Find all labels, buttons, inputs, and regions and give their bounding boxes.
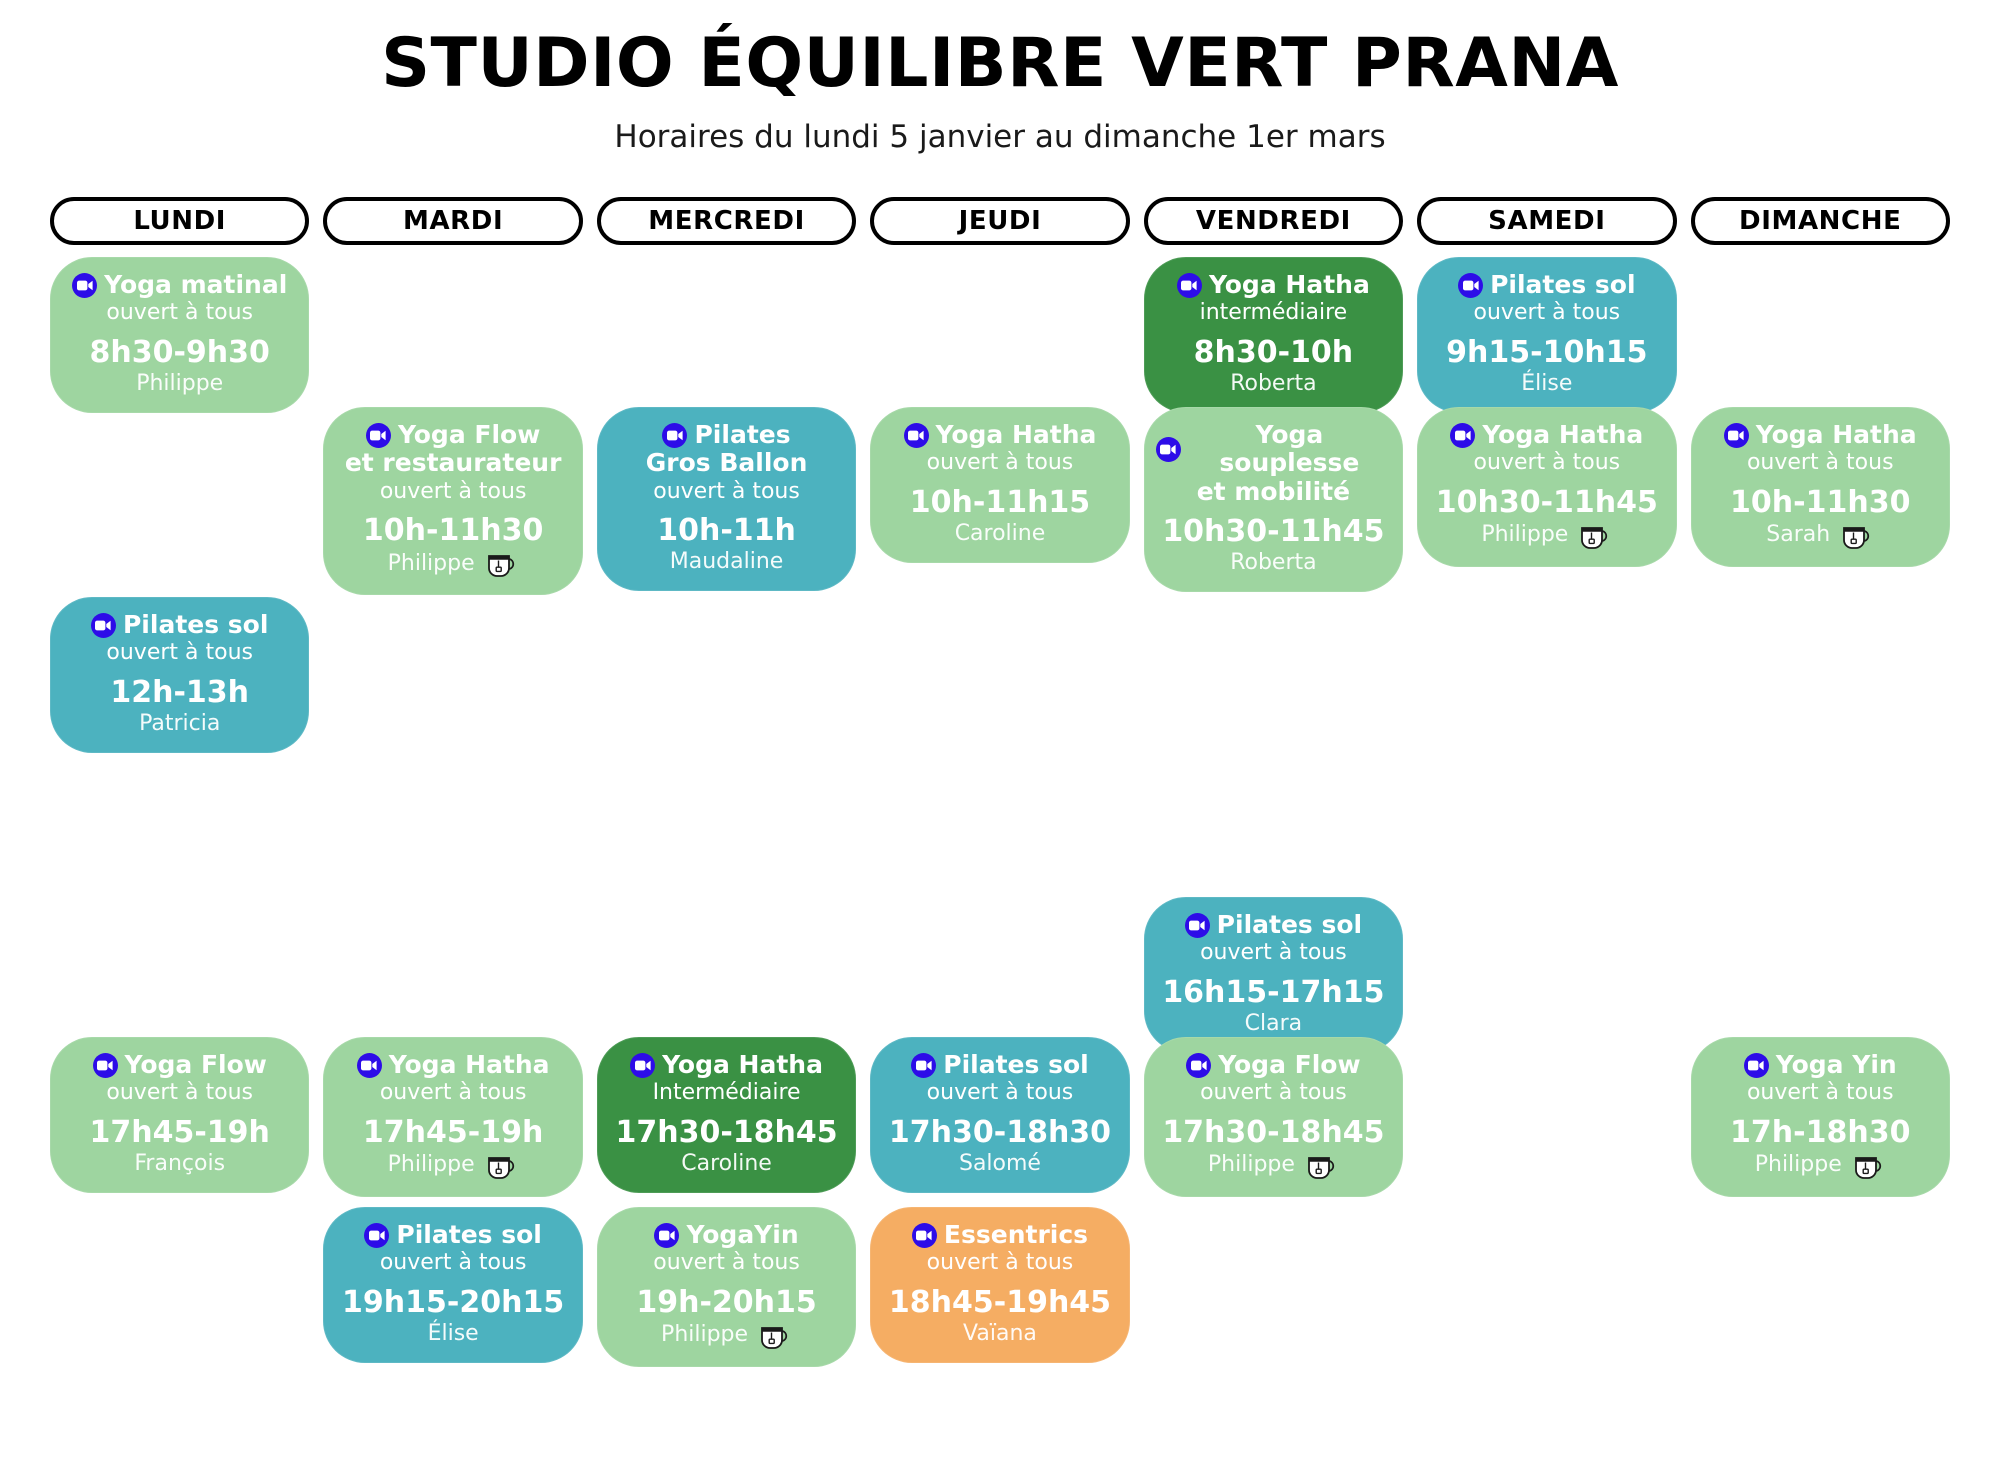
class-title: Pilates sol	[882, 1051, 1117, 1079]
class-teacher: Philippe	[388, 551, 475, 577]
class-title: Yoga Hatha	[1156, 271, 1391, 299]
class-title: Yoga Hatha	[335, 1051, 570, 1079]
class-title-line: Gros Ballon	[609, 449, 844, 477]
class-slot: YogaYinouvert à tous19h-20h15Philippe	[597, 1207, 856, 1367]
zoom-video-icon	[1724, 423, 1749, 448]
class-teacher-row: Maudaline	[609, 549, 844, 575]
class-time: 10h30-11h45	[1156, 515, 1391, 548]
zoom-video-icon	[364, 1223, 389, 1248]
class-title-line: Pilates sol	[943, 1051, 1088, 1079]
class-slot: Yoga Hathaouvert à tous10h30-11h45Philip…	[1417, 407, 1676, 567]
class-time: 19h-20h15	[609, 1286, 844, 1319]
class-slot: Essentricsouvert à tous18h45-19h45Vaïana	[870, 1207, 1129, 1363]
class-title: Pilates sol	[1429, 271, 1664, 299]
class-time: 17h30-18h45	[1156, 1116, 1391, 1149]
day-header-lundi[interactable]: LUNDI	[50, 197, 309, 245]
class-teacher: Élise	[428, 1321, 479, 1347]
class-time: 10h-11h30	[1703, 486, 1938, 519]
class-title-line: Pilates sol	[1217, 911, 1362, 939]
class-title-line: Yoga Hatha	[1209, 271, 1370, 299]
class-teacher: Clara	[1245, 1011, 1302, 1037]
day-header-jeudi[interactable]: JEUDI	[870, 197, 1129, 245]
class-time: 17h30-18h45	[609, 1116, 844, 1149]
class-level: ouvert à tous	[882, 1080, 1117, 1106]
class-slot: Pilates solouvert à tous17h30-18h30Salom…	[870, 1037, 1129, 1193]
class-level: ouvert à tous	[1429, 450, 1664, 476]
class-teacher-row: Sarah	[1703, 521, 1938, 551]
class-time: 8h30-10h	[1156, 336, 1391, 369]
day-header-mardi[interactable]: MARDI	[323, 197, 582, 245]
class-slot: Pilates solouvert à tous19h15-20h15Élise	[323, 1207, 582, 1363]
class-title-line: Yoga Hatha	[389, 1051, 550, 1079]
class-title: Yoga souplesse	[1156, 421, 1391, 478]
class-title: YogaYin	[609, 1221, 844, 1249]
class-slot: Pilates solouvert à tous9h15-10h15Élise	[1417, 257, 1676, 413]
class-title: Yoga Hatha	[882, 421, 1117, 449]
class-slot: Yoga Yinouvert à tous17h-18h30Philippe	[1691, 1037, 1950, 1197]
class-slot: Yoga Hathaintermédiaire8h30-10hRoberta	[1144, 257, 1403, 413]
tea-cup-icon	[758, 1321, 792, 1351]
class-level: ouvert à tous	[882, 450, 1117, 476]
class-teacher: Élise	[1521, 371, 1572, 397]
class-time: 8h30-9h30	[62, 336, 297, 369]
zoom-video-icon	[1186, 1053, 1211, 1078]
class-slot: Yoga Hathaouvert à tous10h-11h15Caroline	[870, 407, 1129, 563]
class-teacher: Maudaline	[670, 549, 784, 575]
class-card[interactable]: Yoga Hathaouvert à tous10h-11h15Caroline	[870, 407, 1129, 563]
class-card[interactable]: Yoga Flowouvert à tous17h30-18h45Philipp…	[1144, 1037, 1403, 1197]
class-teacher-row: Salomé	[882, 1151, 1117, 1177]
class-teacher-row: Philippe	[335, 549, 570, 579]
class-title-line: Yoga Flow	[1218, 1051, 1360, 1079]
class-title: Yoga Flow	[1156, 1051, 1391, 1079]
zoom-video-icon	[1744, 1053, 1769, 1078]
class-title-line: Pilates sol	[123, 611, 268, 639]
class-card[interactable]: PilatesGros Ballonouvert à tous10h-11hMa…	[597, 407, 856, 591]
class-level: ouvert à tous	[62, 1080, 297, 1106]
class-card[interactable]: Yoga souplesseet mobilité10h30-11h45Robe…	[1144, 407, 1403, 592]
class-card[interactable]: Yoga Flowouvert à tous17h45-19hFrançois	[50, 1037, 309, 1193]
zoom-video-icon	[91, 613, 116, 638]
class-teacher-row: Philippe	[1703, 1151, 1938, 1181]
class-card[interactable]: YogaYinouvert à tous19h-20h15Philippe	[597, 1207, 856, 1367]
class-time: 10h-11h30	[335, 514, 570, 547]
class-level: ouvert à tous	[609, 1250, 844, 1276]
tea-cup-icon	[1852, 1151, 1886, 1181]
class-teacher-row: Élise	[335, 1321, 570, 1347]
class-card[interactable]: Essentricsouvert à tous18h45-19h45Vaïana	[870, 1207, 1129, 1363]
class-level: ouvert à tous	[335, 1080, 570, 1106]
tea-cup-icon	[1305, 1151, 1339, 1181]
class-title-line: Yoga Hatha	[1482, 421, 1643, 449]
class-level: ouvert à tous	[1703, 1080, 1938, 1106]
day-header-label: DIMANCHE	[1739, 206, 1901, 236]
class-teacher-row: Philippe	[1156, 1151, 1391, 1181]
day-header-label: LUNDI	[133, 206, 226, 236]
page-subtitle: Horaires du lundi 5 janvier au dimanche …	[0, 103, 2000, 155]
page-header: STUDIO ÉQUILIBRE VERT PRANA Horaires du …	[0, 0, 2000, 155]
class-teacher: Philippe	[661, 1322, 748, 1348]
class-title-line: Yoga Flow	[398, 421, 540, 449]
class-teacher: Caroline	[955, 521, 1046, 547]
zoom-video-icon	[1458, 273, 1483, 298]
class-slot: Yoga Flowouvert à tous17h45-19hFrançois	[50, 1037, 309, 1193]
class-time: 10h30-11h45	[1429, 486, 1664, 519]
class-card[interactable]: Yoga Hathaouvert à tous10h-11h30Sarah	[1691, 407, 1950, 567]
class-time: 9h15-10h15	[1429, 336, 1664, 369]
class-teacher-row: Patricia	[62, 711, 297, 737]
day-header-label: VENDREDI	[1196, 206, 1351, 236]
class-teacher-row: Clara	[1156, 1011, 1391, 1037]
schedule-page: STUDIO ÉQUILIBRE VERT PRANA Horaires du …	[0, 0, 2000, 1467]
zoom-video-icon	[630, 1053, 655, 1078]
class-card[interactable]: Pilates solouvert à tous9h15-10h15Élise	[1417, 257, 1676, 413]
class-teacher: Philippe	[1755, 1152, 1842, 1178]
class-card[interactable]: Yoga Flowet restaurateurouvert à tous10h…	[323, 407, 582, 595]
class-title-line: YogaYin	[686, 1221, 798, 1249]
class-time: 19h15-20h15	[335, 1286, 570, 1319]
class-title-line: Yoga Hatha	[662, 1051, 823, 1079]
zoom-video-icon	[366, 423, 391, 448]
class-title-line: Pilates	[694, 421, 790, 449]
class-teacher-row: Philippe	[62, 371, 297, 397]
day-header-vendredi[interactable]: VENDREDI	[1144, 197, 1403, 245]
class-teacher: Philippe	[1208, 1152, 1295, 1178]
class-time: 17h-18h30	[1703, 1116, 1938, 1149]
class-slot: Pilates solouvert à tous16h15-17h15Clara	[1144, 897, 1403, 1053]
day-header-label: MARDI	[403, 206, 503, 236]
zoom-video-icon	[912, 1223, 937, 1248]
day-header-label: SAMEDI	[1488, 206, 1605, 236]
class-teacher-row: Philippe	[1429, 521, 1664, 551]
zoom-video-icon	[1177, 273, 1202, 298]
class-teacher-row: Roberta	[1156, 371, 1391, 397]
zoom-video-icon	[93, 1053, 118, 1078]
class-time: 10h-11h	[609, 514, 844, 547]
class-title: Yoga Yin	[1703, 1051, 1938, 1079]
class-level: ouvert à tous	[1703, 450, 1938, 476]
tea-cup-icon	[485, 1151, 519, 1181]
zoom-video-icon	[72, 273, 97, 298]
class-card[interactable]: Pilates solouvert à tous16h15-17h15Clara	[1144, 897, 1403, 1053]
class-teacher-row: Roberta	[1156, 550, 1391, 576]
class-teacher-row: Élise	[1429, 371, 1664, 397]
class-teacher-row: François	[62, 1151, 297, 1177]
class-time: 10h-11h15	[882, 486, 1117, 519]
class-title: Pilates sol	[1156, 911, 1391, 939]
class-teacher: Vaïana	[963, 1321, 1037, 1347]
class-title-line: Yoga Hatha	[1756, 421, 1917, 449]
class-teacher-row: Philippe	[609, 1321, 844, 1351]
class-teacher: François	[134, 1151, 225, 1177]
class-slot: Yoga Hathaouvert à tous10h-11h30Sarah	[1691, 407, 1950, 567]
class-time: 18h45-19h45	[882, 1286, 1117, 1319]
class-level: ouvert à tous	[62, 640, 297, 666]
class-time: 17h30-18h30	[882, 1116, 1117, 1149]
class-level: ouvert à tous	[335, 1250, 570, 1276]
class-teacher: Philippe	[388, 1152, 475, 1178]
class-title-line: Yoga Yin	[1776, 1051, 1897, 1079]
class-card[interactable]: Yoga HathaIntermédiaire17h30-18h45Caroli…	[597, 1037, 856, 1193]
zoom-video-icon	[654, 1223, 679, 1248]
class-title-line: Yoga Flow	[125, 1051, 267, 1079]
zoom-video-icon	[1156, 437, 1181, 462]
class-level: ouvert à tous	[62, 300, 297, 326]
class-slot: Yoga Flowet restaurateurouvert à tous10h…	[323, 407, 582, 595]
class-level: ouvert à tous	[1429, 300, 1664, 326]
class-card[interactable]: Yoga Hathaintermédiaire8h30-10hRoberta	[1144, 257, 1403, 413]
tea-cup-icon	[485, 549, 519, 579]
class-title-line: Pilates sol	[1490, 271, 1635, 299]
day-header-label: JEUDI	[959, 206, 1042, 236]
class-title-line: Essentrics	[944, 1221, 1088, 1249]
class-time: 12h-13h	[62, 676, 297, 709]
class-title: Yoga matinal	[62, 271, 297, 299]
class-title-line: Pilates sol	[396, 1221, 541, 1249]
class-title: Pilates	[609, 421, 844, 449]
class-title-line: et mobilité	[1156, 478, 1391, 506]
class-card[interactable]: Yoga matinalouvert à tous8h30-9h30Philip…	[50, 257, 309, 413]
schedule-grid: LUNDIMARDIMERCREDIJEUDIVENDREDISAMEDIDIM…	[8, 197, 1992, 1337]
class-card[interactable]: Pilates solouvert à tous19h15-20h15Élise	[323, 1207, 582, 1363]
zoom-video-icon	[1185, 913, 1210, 938]
class-teacher: Sarah	[1766, 522, 1830, 548]
class-level: ouvert à tous	[1156, 1080, 1391, 1106]
class-slot: Yoga Hathaouvert à tous17h45-19hPhilippe	[323, 1037, 582, 1197]
class-teacher: Philippe	[136, 371, 223, 397]
class-card[interactable]: Yoga Hathaouvert à tous17h45-19hPhilippe	[323, 1037, 582, 1197]
class-time: 17h45-19h	[62, 1116, 297, 1149]
class-card[interactable]: Pilates solouvert à tous12h-13hPatricia	[50, 597, 309, 753]
page-title: STUDIO ÉQUILIBRE VERT PRANA	[0, 0, 2000, 103]
schedule-board: Yoga matinalouvert à tous8h30-9h30Philip…	[28, 257, 1972, 1337]
zoom-video-icon	[357, 1053, 382, 1078]
class-teacher: Roberta	[1230, 371, 1316, 397]
class-title: Pilates sol	[335, 1221, 570, 1249]
class-level: intermédiaire	[1156, 300, 1391, 326]
day-header-samedi[interactable]: SAMEDI	[1417, 197, 1676, 245]
class-teacher: Salomé	[959, 1151, 1041, 1177]
class-time: 16h15-17h15	[1156, 976, 1391, 1009]
zoom-video-icon	[911, 1053, 936, 1078]
class-level: ouvert à tous	[335, 479, 570, 505]
class-level: ouvert à tous	[1156, 940, 1391, 966]
class-title: Essentrics	[882, 1221, 1117, 1249]
class-teacher-row: Vaïana	[882, 1321, 1117, 1347]
class-slot: Yoga Flowouvert à tous17h30-18h45Philipp…	[1144, 1037, 1403, 1197]
zoom-video-icon	[904, 423, 929, 448]
day-header-label: MERCREDI	[648, 206, 805, 236]
class-card[interactable]: Yoga Hathaouvert à tous10h30-11h45Philip…	[1417, 407, 1676, 567]
class-level: ouvert à tous	[882, 1250, 1117, 1276]
class-title-line: et restaurateur	[335, 449, 570, 477]
class-teacher: Roberta	[1230, 550, 1316, 576]
class-title-line: Yoga Hatha	[936, 421, 1097, 449]
class-teacher: Philippe	[1481, 522, 1568, 548]
day-header-dimanche[interactable]: DIMANCHE	[1691, 197, 1950, 245]
class-slot: Yoga HathaIntermédiaire17h30-18h45Caroli…	[597, 1037, 856, 1193]
class-teacher-row: Caroline	[609, 1151, 844, 1177]
class-slot: Pilates solouvert à tous12h-13hPatricia	[50, 597, 309, 753]
class-level: Intermédiaire	[609, 1080, 844, 1106]
class-level: ouvert à tous	[609, 479, 844, 505]
zoom-video-icon	[662, 423, 687, 448]
day-header-mercredi[interactable]: MERCREDI	[597, 197, 856, 245]
class-slot: Yoga souplesseet mobilité10h30-11h45Robe…	[1144, 407, 1403, 592]
class-card[interactable]: Pilates solouvert à tous17h30-18h30Salom…	[870, 1037, 1129, 1193]
class-title: Yoga Hatha	[1703, 421, 1938, 449]
class-teacher-row: Philippe	[335, 1151, 570, 1181]
class-teacher: Caroline	[681, 1151, 772, 1177]
class-title: Pilates sol	[62, 611, 297, 639]
class-card[interactable]: Yoga Yinouvert à tous17h-18h30Philippe	[1691, 1037, 1950, 1197]
class-title-line: Yoga matinal	[104, 271, 287, 299]
class-slot: Yoga matinalouvert à tous8h30-9h30Philip…	[50, 257, 309, 413]
class-teacher: Patricia	[139, 711, 220, 737]
class-title: Yoga Flow	[335, 421, 570, 449]
class-title-line: Yoga souplesse	[1188, 421, 1391, 478]
class-title: Yoga Hatha	[1429, 421, 1664, 449]
tea-cup-icon	[1840, 521, 1874, 551]
class-title: Yoga Hatha	[609, 1051, 844, 1079]
class-teacher-row: Caroline	[882, 521, 1117, 547]
class-time: 17h45-19h	[335, 1116, 570, 1149]
day-header-row: LUNDIMARDIMERCREDIJEUDIVENDREDISAMEDIDIM…	[28, 197, 1972, 245]
tea-cup-icon	[1578, 521, 1612, 551]
zoom-video-icon	[1450, 423, 1475, 448]
class-slot: PilatesGros Ballonouvert à tous10h-11hMa…	[597, 407, 856, 591]
class-title: Yoga Flow	[62, 1051, 297, 1079]
